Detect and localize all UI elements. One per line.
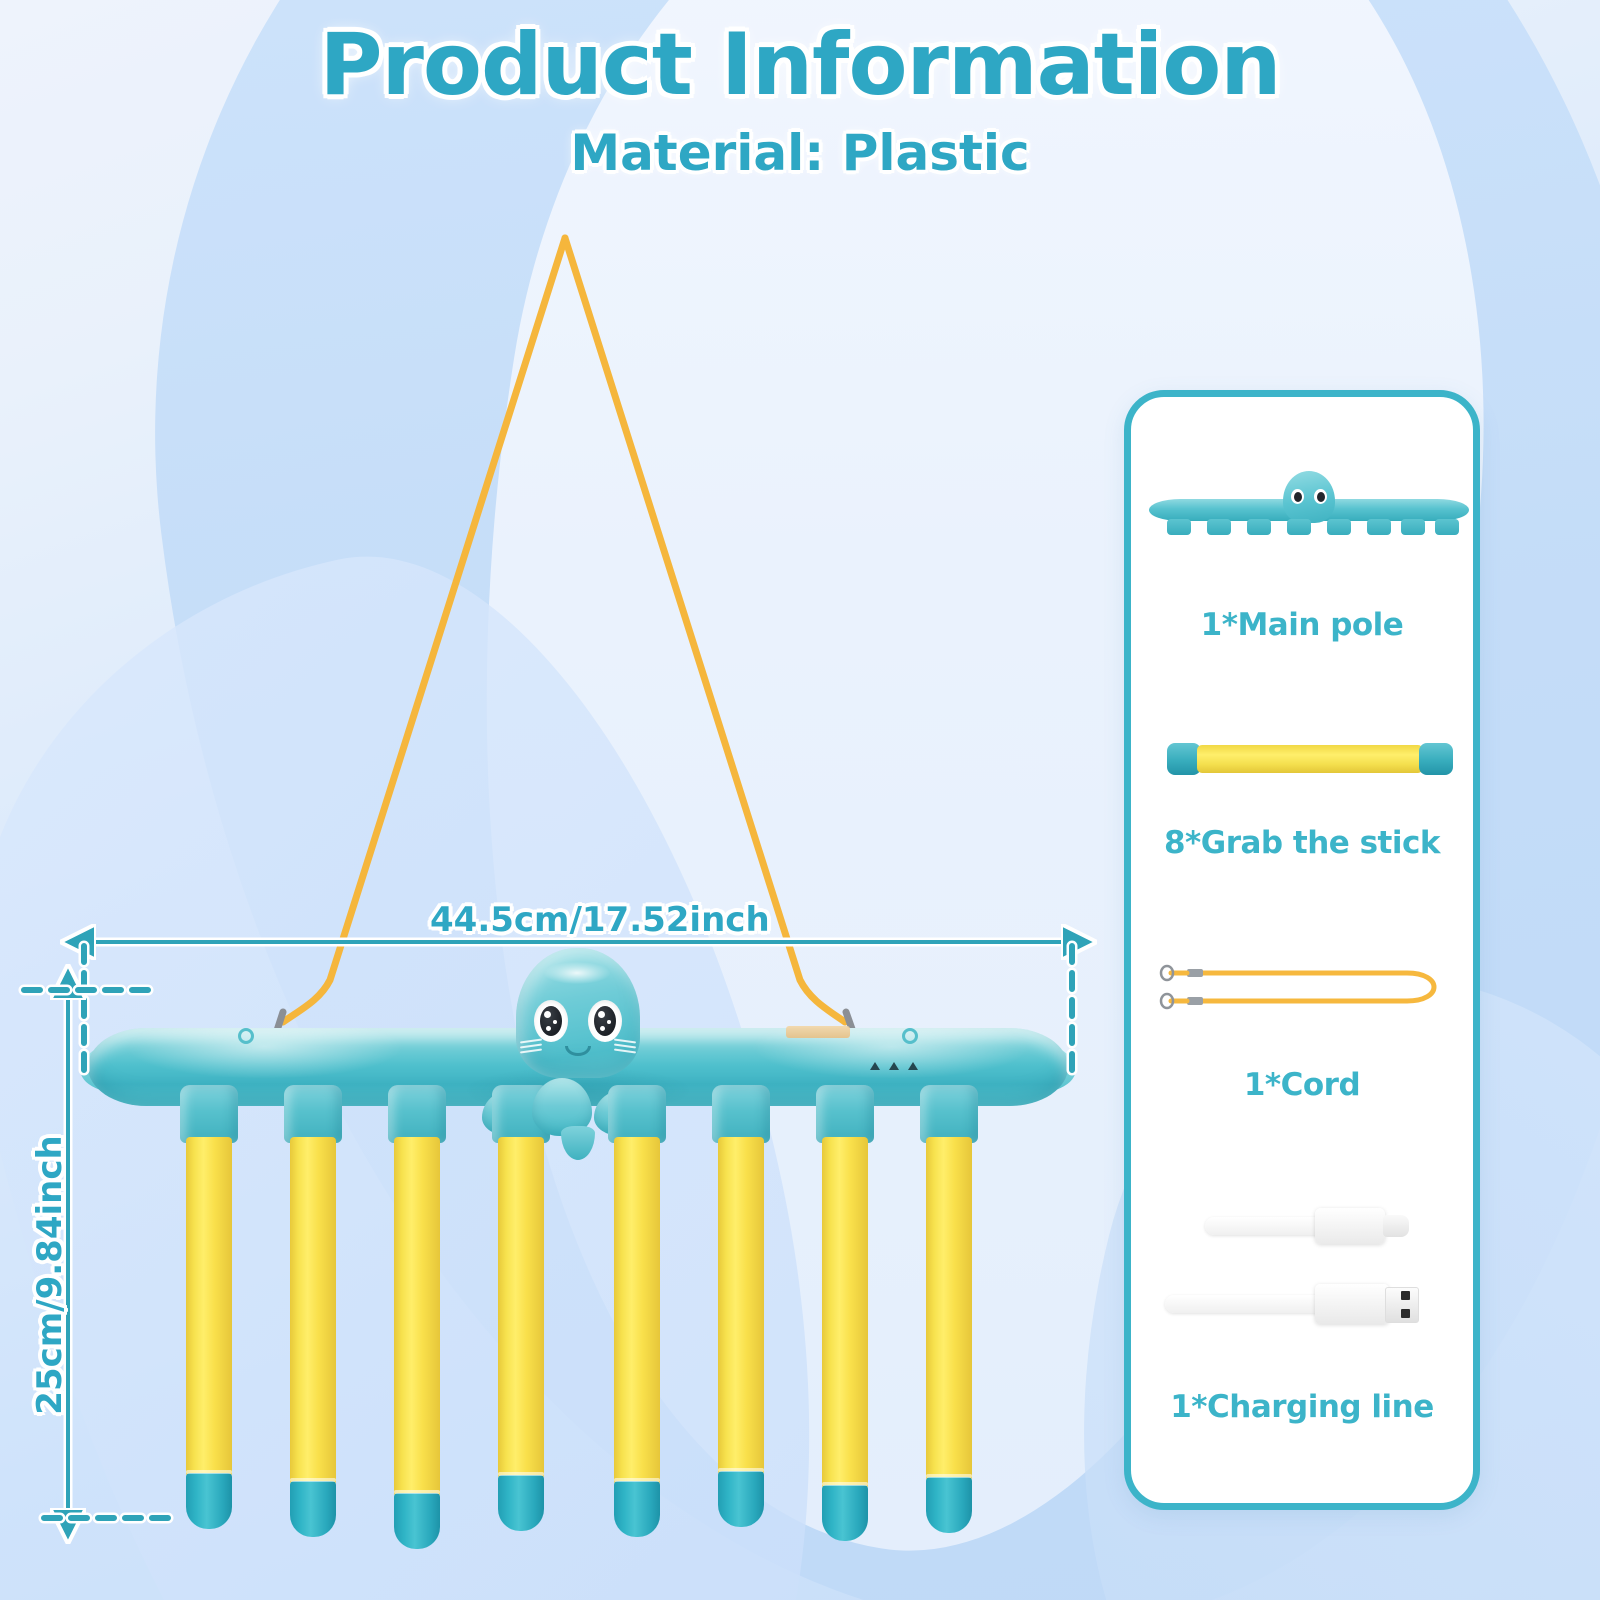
part-label-grab-stick: 8*Grab the stick <box>1131 825 1473 861</box>
stick-tip <box>926 1477 972 1533</box>
octopus-eye-right <box>588 1000 622 1042</box>
mini-stick-body <box>1197 745 1423 773</box>
mini-foot <box>1367 519 1391 535</box>
mini-octopus-pole-icon <box>1149 485 1469 535</box>
stick-tip <box>186 1473 232 1529</box>
usb-contact-pin <box>1401 1291 1410 1300</box>
stick-socket <box>608 1085 666 1143</box>
cord-figure <box>1131 917 1473 1027</box>
cable-body-bottom <box>1165 1295 1335 1313</box>
stick-tip <box>498 1475 544 1531</box>
mini-grab-stick-icon <box>1167 741 1453 777</box>
stick-socket <box>388 1085 446 1143</box>
label-sticker <box>786 1026 850 1038</box>
blush-left <box>520 1040 542 1052</box>
stick-tube <box>614 1137 660 1485</box>
stick-tube <box>822 1137 868 1489</box>
stick-socket <box>920 1085 978 1143</box>
stick-tip <box>394 1493 440 1549</box>
part-item-cord: 1*Cord <box>1131 917 1473 1103</box>
cord-ring-left-icon <box>238 1028 254 1044</box>
stick-tube <box>394 1137 440 1497</box>
stick-socket <box>180 1085 238 1143</box>
package-contents-card: 1*Main pole 8*Grab the stick 1*Cor <box>1124 390 1480 1510</box>
stick-tip <box>290 1481 336 1537</box>
mini-stick-cap-left <box>1167 743 1201 775</box>
head-shine <box>544 962 610 984</box>
stick-socket <box>284 1085 342 1143</box>
octopus-mouth <box>565 1046 591 1056</box>
height-dimension-label: 25cm/9.84inch <box>30 1105 70 1445</box>
mini-eye-left <box>1291 489 1304 504</box>
stick-tube <box>290 1137 336 1485</box>
stick-tip <box>614 1481 660 1537</box>
mini-stick-cap-right <box>1419 743 1453 775</box>
mini-foot <box>1167 519 1191 535</box>
octopus-eye-left <box>534 1000 568 1042</box>
charging-line-figure <box>1131 1187 1473 1367</box>
part-label-charging-line: 1*Charging line <box>1131 1389 1473 1425</box>
usb-contact-pin <box>1401 1309 1410 1318</box>
mini-foot <box>1247 519 1271 535</box>
mini-foot <box>1207 519 1231 535</box>
page-title: Product Information <box>0 20 1600 110</box>
octopus-head <box>516 948 640 1078</box>
stick-tube <box>718 1137 764 1475</box>
stick-tube <box>926 1137 972 1481</box>
width-dimension-label: 44.5cm/17.52inch <box>430 900 770 940</box>
stick-tip <box>822 1485 868 1541</box>
part-label-main-pole: 1*Main pole <box>1131 607 1473 643</box>
mini-foot <box>1327 519 1351 535</box>
mini-foot <box>1287 519 1311 535</box>
mini-eye-right <box>1314 489 1327 504</box>
usb-c-plug-icon <box>1315 1208 1385 1244</box>
pupil-left <box>540 1006 562 1036</box>
stick-socket <box>712 1085 770 1143</box>
speaker-vent-icon <box>870 1062 918 1070</box>
part-item-grab-stick: 8*Grab the stick <box>1131 687 1473 861</box>
mini-foot <box>1401 519 1425 535</box>
stick-tip <box>718 1471 764 1527</box>
mini-foot <box>1435 519 1459 535</box>
mini-head <box>1283 471 1335 523</box>
grab-stick-figure <box>1131 687 1473 797</box>
stick-tube <box>498 1137 544 1479</box>
usb-a-plug-icon <box>1315 1284 1389 1324</box>
stick-tube <box>186 1137 232 1477</box>
pupil-right <box>594 1006 616 1036</box>
material-subtitle: Material: Plastic <box>0 124 1600 182</box>
blush-right <box>614 1040 636 1052</box>
mini-charging-cable-icon <box>1165 1199 1455 1349</box>
main-pole-figure <box>1131 437 1473 547</box>
mini-cord-icon <box>1157 957 1457 1017</box>
part-item-charging-line: 1*Charging line <box>1131 1187 1473 1425</box>
header-block: Product Information Material: Plastic <box>0 20 1600 182</box>
cord-ring-right-icon <box>902 1028 918 1044</box>
part-label-cord: 1*Cord <box>1131 1067 1473 1103</box>
part-item-main-pole: 1*Main pole <box>1131 437 1473 643</box>
stick-socket <box>816 1085 874 1143</box>
